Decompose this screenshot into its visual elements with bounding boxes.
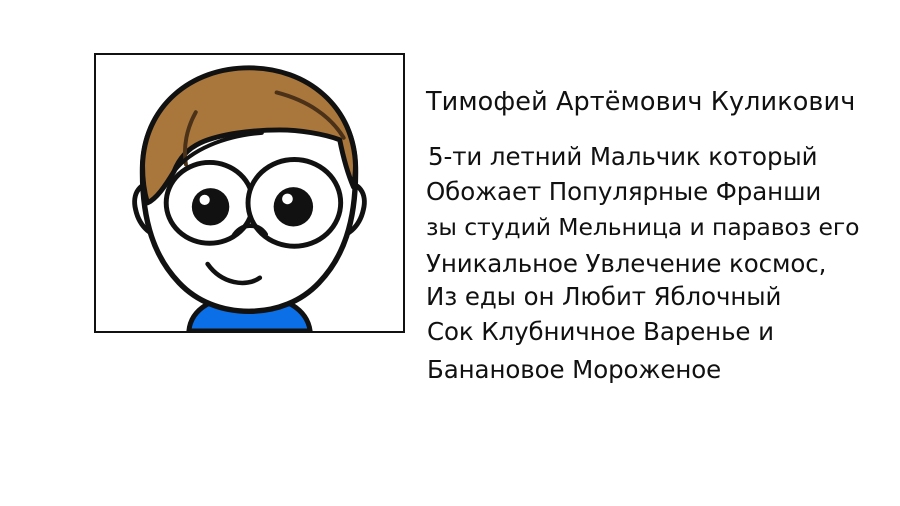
description-line: Уникальное Увлечение космос, — [426, 246, 898, 282]
character-portrait-frame — [94, 53, 405, 333]
description-line: зы студий Мельница и паравоз его — [426, 209, 898, 246]
right-eye-shape — [248, 159, 341, 246]
description-line: Банановое Мороженое — [427, 351, 898, 389]
description-line: Из еды он Любит Яблочный — [426, 282, 898, 312]
description-line: Сок Клубничное Варенье и — [427, 312, 898, 351]
description-line: 5-ти летний Мальчик который — [428, 140, 898, 175]
description-line: Обожает Популярные Франши — [426, 175, 898, 210]
character-description-list: 5-ти летний Мальчик который Обожает Попу… — [420, 140, 898, 389]
character-info-panel: Тимофей Артёмович Куликович 5-ти летний … — [420, 86, 898, 389]
character-name: Тимофей Артёмович Куликович — [426, 86, 898, 118]
character-portrait-illustration — [96, 55, 403, 331]
